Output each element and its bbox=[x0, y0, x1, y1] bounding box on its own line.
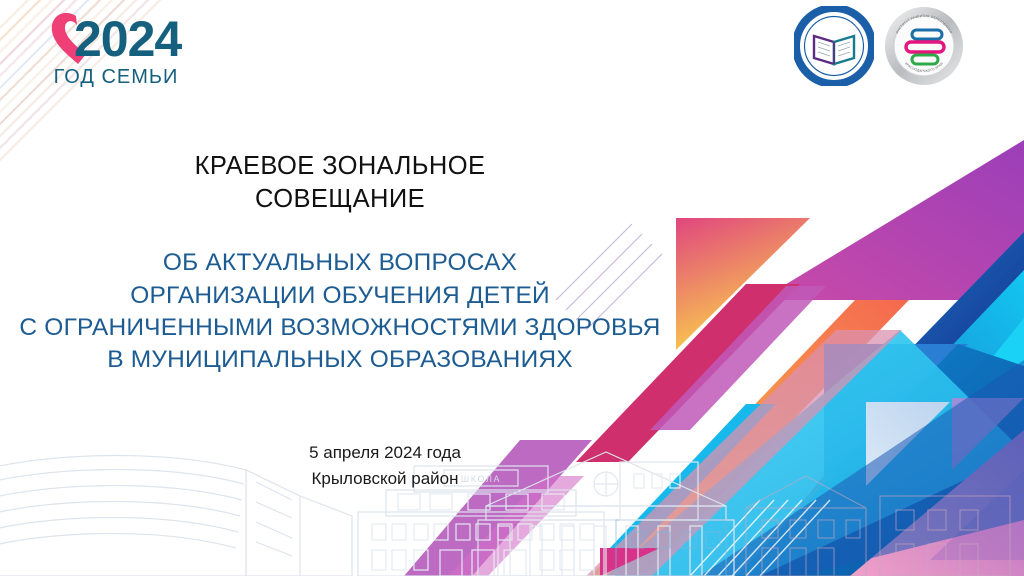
year-of-family-logo: 2024 ГОД СЕМЬИ bbox=[42, 4, 192, 96]
title-line-2: СОВЕЩАНИЕ bbox=[0, 183, 680, 216]
event-details: 5 апреля 2024 года Крыловской район bbox=[0, 440, 770, 491]
subtitle-line-2: ОРГАНИЗАЦИИ ОБУЧЕНИЯ ДЕТЕЙ bbox=[0, 280, 680, 312]
event-date: 5 апреля 2024 года bbox=[0, 440, 770, 466]
subtitle-line-3: С ОГРАНИЧЕННЫМИ ВОЗМОЖНОСТЯМИ ЗДОРОВЬЯ bbox=[0, 312, 680, 344]
institute-of-education-development-emblem: ИНСТИТУТ РАЗВИТИЯ ОБРАЗОВАНИЯ КРАСНОДАРС… bbox=[884, 6, 964, 86]
page-title: КРАЕВОЕ ЗОНАЛЬНОЕ СОВЕЩАНИЕ bbox=[0, 150, 680, 215]
ministry-of-education-emblem: МИНИСТЕРСТВО ОБРАЗОВАНИЯ, НАУКИ И МОЛОДЁ… bbox=[794, 6, 874, 86]
logo-caption: ГОД СЕМЬИ bbox=[54, 66, 179, 88]
logo-year: 2024 bbox=[74, 11, 182, 67]
event-location: Крыловской район bbox=[0, 466, 770, 492]
subtitle: ОБ АКТУАЛЬНЫХ ВОПРОСАХ ОРГАНИЗАЦИИ ОБУЧЕ… bbox=[0, 247, 680, 376]
title-area: КРАЕВОЕ ЗОНАЛЬНОЕ СОВЕЩАНИЕ ОБ АКТУАЛЬНЫ… bbox=[0, 150, 680, 377]
presentation-slide: ШКОЛА 2024 ГОД СЕМЬИ 2024 ГОД СЕМЬИ bbox=[0, 0, 1024, 576]
subtitle-line-4: В МУНИЦИПАЛЬНЫХ ОБРАЗОВАНИЯХ bbox=[0, 344, 680, 376]
emblem-group: МИНИСТЕРСТВО ОБРАЗОВАНИЯ, НАУКИ И МОЛОДЁ… bbox=[794, 6, 964, 86]
title-line-1: КРАЕВОЕ ЗОНАЛЬНОЕ bbox=[0, 150, 680, 183]
subtitle-line-1: ОБ АКТУАЛЬНЫХ ВОПРОСАХ bbox=[0, 247, 680, 279]
